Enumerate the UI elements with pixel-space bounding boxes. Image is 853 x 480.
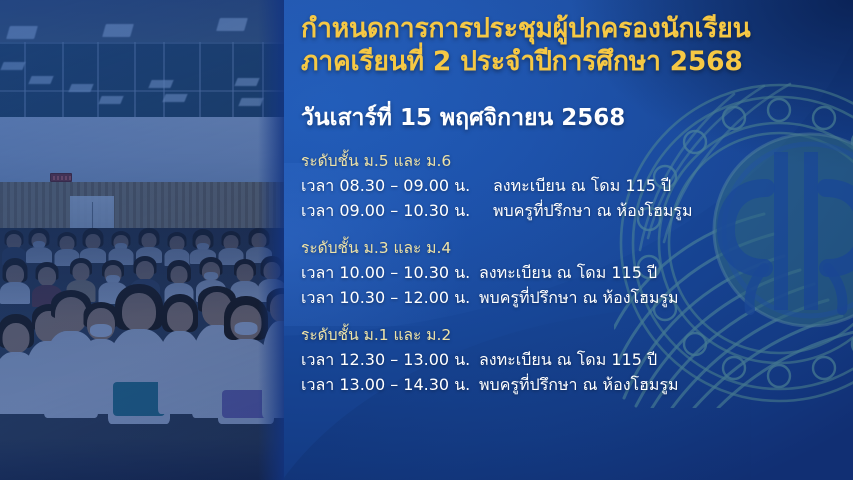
schedule-time: เวลา 10.00 – 10.30 น. xyxy=(301,260,479,285)
auditorium-photo xyxy=(0,0,284,480)
schedule-time: เวลา 09.00 – 10.30 น. xyxy=(301,198,479,223)
schedule-block: ระดับชั้น ม.3 และ ม.4 เวลา 10.00 – 10.30… xyxy=(301,237,846,310)
schedule-time: เวลา 13.00 – 14.30 น. xyxy=(301,372,479,397)
info-panel: กำหนดการการประชุมผู้ปกครองนักเรียน ภาคเร… xyxy=(284,0,853,480)
schedule-block: ระดับชั้น ม.5 และ ม.6 เวลา 08.30 – 09.00… xyxy=(301,150,846,223)
photo-edge-fade xyxy=(258,0,284,480)
grade-level-heading: ระดับชั้น ม.1 และ ม.2 xyxy=(301,324,846,347)
schedule-time: เวลา 12.30 – 13.00 น. xyxy=(301,347,479,372)
schedule-activity: ลงทะเบียน ณ โดม 115 ปี xyxy=(479,173,846,198)
schedule-activity: พบครูที่ปรึกษา ณ ห้องโฮมรูม xyxy=(479,285,846,310)
schedule-row: เวลา 13.00 – 14.30 น. พบครูที่ปรึกษา ณ ห… xyxy=(301,372,846,397)
schedule-block: ระดับชั้น ม.1 และ ม.2 เวลา 12.30 – 13.00… xyxy=(301,324,846,397)
grade-level-heading: ระดับชั้น ม.3 และ ม.4 xyxy=(301,237,846,260)
poster-title-line1: กำหนดการการประชุมผู้ปกครองนักเรียน xyxy=(301,13,750,44)
schedule-row: เวลา 09.00 – 10.30 น. พบครูที่ปรึกษา ณ ห… xyxy=(301,198,846,223)
schedule-row: เวลา 12.30 – 13.00 น. ลงทะเบียน ณ โดม 11… xyxy=(301,347,846,372)
schedule-activity: พบครูที่ปรึกษา ณ ห้องโฮมรูม xyxy=(479,372,846,397)
schedule-row: เวลา 08.30 – 09.00 น. ลงทะเบียน ณ โดม 11… xyxy=(301,173,846,198)
grade-level-heading: ระดับชั้น ม.5 และ ม.6 xyxy=(301,150,846,173)
schedule-row: เวลา 10.00 – 10.30 น. ลงทะเบียน ณ โดม 11… xyxy=(301,260,846,285)
poster-root: กำหนดการการประชุมผู้ปกครองนักเรียน ภาคเร… xyxy=(0,0,853,480)
schedule-time: เวลา 08.30 – 09.00 น. xyxy=(301,173,479,198)
schedule-list: ระดับชั้น ม.5 และ ม.6 เวลา 08.30 – 09.00… xyxy=(301,150,846,397)
schedule-row: เวลา 10.30 – 12.00 น. พบครูที่ปรึกษา ณ ห… xyxy=(301,285,846,310)
schedule-time: เวลา 10.30 – 12.00 น. xyxy=(301,285,479,310)
poster-title-line2: ภาคเรียนที่ 2 ประจำปีการศึกษา 2568 xyxy=(301,45,831,78)
photo-blue-tint-2 xyxy=(0,0,284,480)
panel-content: กำหนดการการประชุมผู้ปกครองนักเรียน ภาคเร… xyxy=(284,0,853,480)
schedule-activity: พบครูที่ปรึกษา ณ ห้องโฮมรูม xyxy=(479,198,846,223)
schedule-activity: ลงทะเบียน ณ โดม 115 ปี xyxy=(479,347,846,372)
poster-date: วันเสาร์ที่ 15 พฤศจิกายน 2568 xyxy=(301,104,625,132)
poster-title: กำหนดการการประชุมผู้ปกครองนักเรียน ภาคเร… xyxy=(301,12,831,78)
schedule-activity: ลงทะเบียน ณ โดม 115 ปี xyxy=(479,260,846,285)
